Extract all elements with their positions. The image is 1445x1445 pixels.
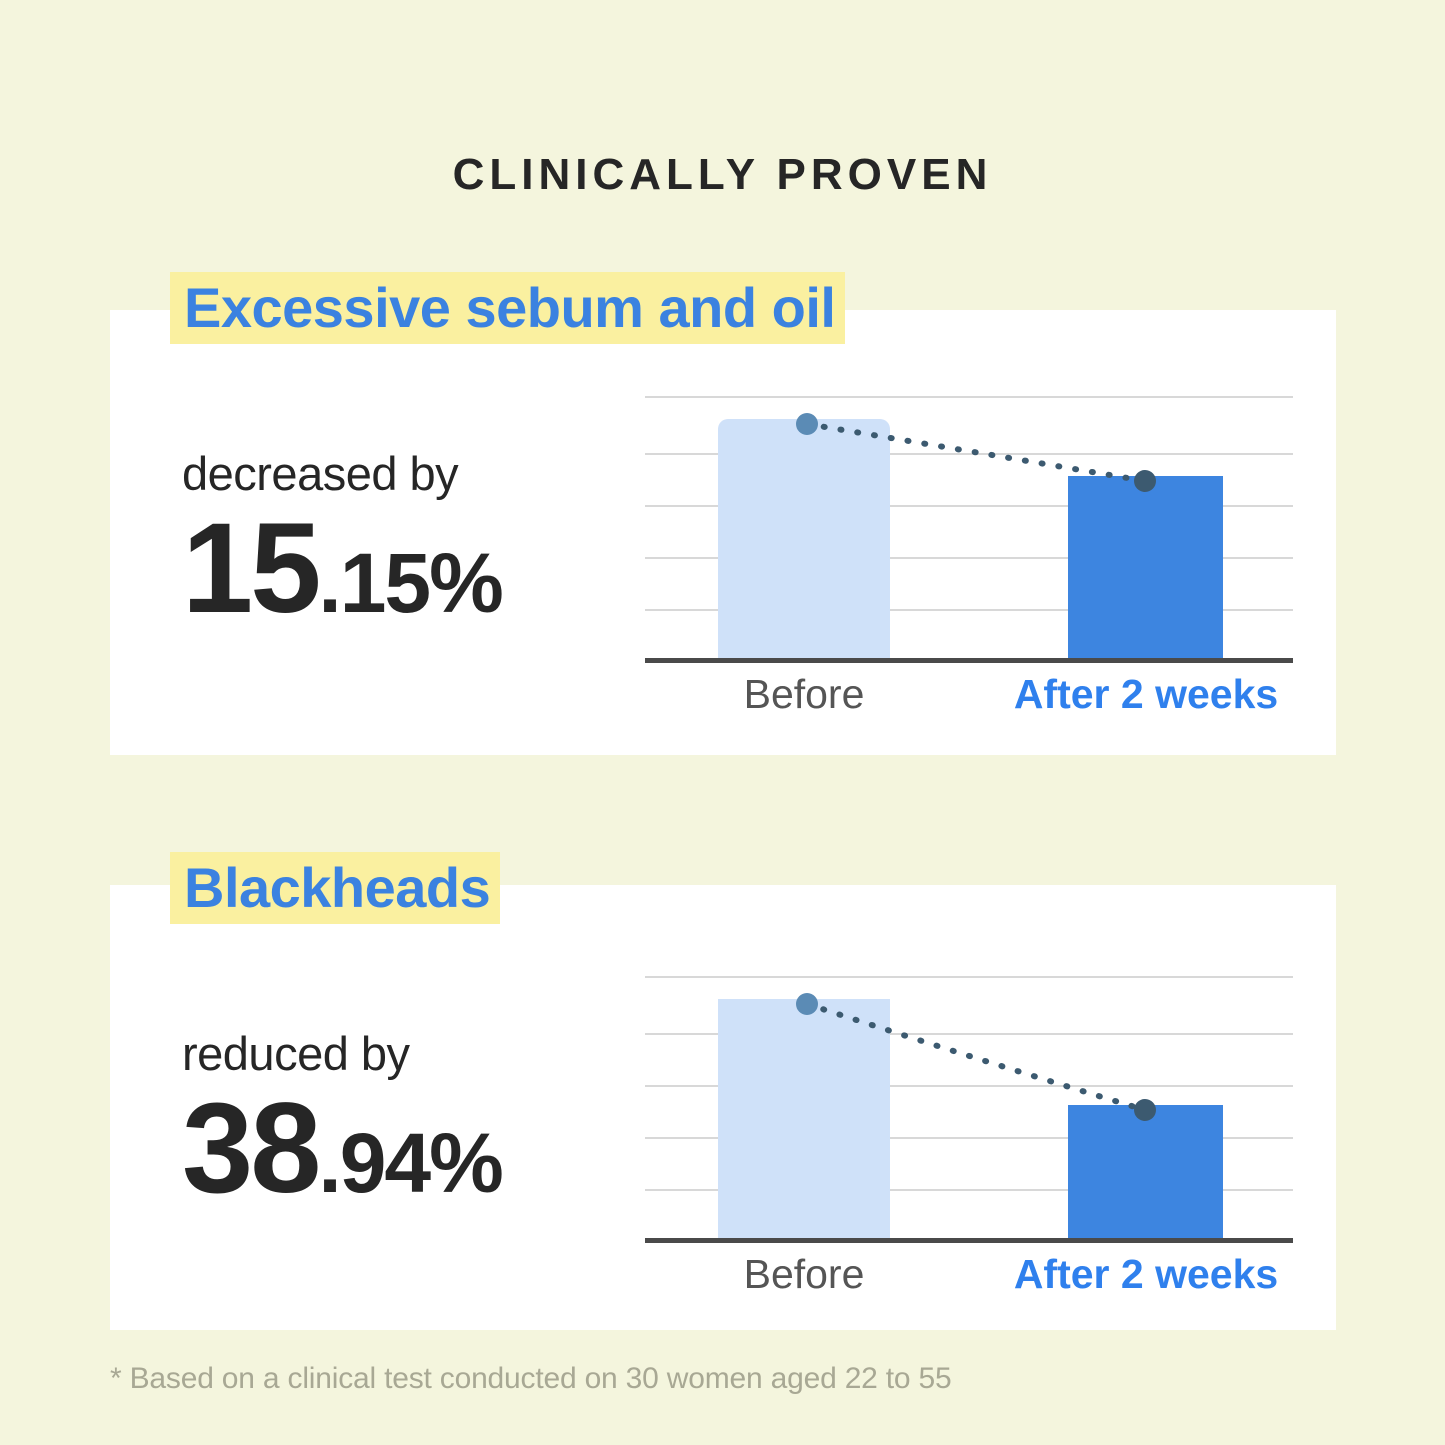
gridline (645, 396, 1293, 398)
stat-value: 38 .94% (182, 1088, 502, 1210)
stat-value-fraction: .15% (318, 544, 501, 624)
chart-axis-labels: Before After 2 weeks (645, 1252, 1293, 1312)
bar-chart: Before After 2 weeks (645, 970, 1293, 1270)
section-title-highlight: Excessive sebum and oil (170, 272, 845, 344)
stat-value: 15 .15% (182, 508, 502, 630)
footnote: * Based on a clinical test conducted on … (110, 1362, 952, 1396)
chart-plot-area (645, 970, 1293, 1243)
chart-axis-labels: Before After 2 weeks (645, 672, 1293, 732)
axis-label-after: After 2 weeks (1000, 672, 1292, 717)
stat-label: reduced by (182, 1028, 502, 1080)
axis-baseline (645, 1238, 1293, 1243)
stat-block: decreased by 15 .15% (182, 448, 502, 629)
stat-block: reduced by 38 .94% (182, 1028, 502, 1209)
page-title: CLINICALLY PROVEN (0, 150, 1445, 200)
bar-chart: Before After 2 weeks (645, 390, 1293, 690)
bar-after (1068, 1105, 1223, 1238)
section-title-highlight: Blackheads (170, 852, 500, 924)
bar-before (718, 419, 890, 658)
stat-label: decreased by (182, 448, 502, 500)
section-title-text: Excessive sebum and oil (184, 280, 835, 336)
axis-label-before: Before (658, 672, 950, 717)
stat-value-integer: 15 (182, 508, 318, 630)
stat-value-integer: 38 (182, 1088, 318, 1210)
bar-after (1068, 476, 1223, 658)
axis-baseline (645, 658, 1293, 663)
axis-label-after: After 2 weeks (1000, 1252, 1292, 1297)
stat-value-fraction: .94% (318, 1124, 501, 1204)
chart-plot-area (645, 390, 1293, 663)
section-title-text: Blackheads (184, 860, 490, 916)
gridline (645, 976, 1293, 978)
axis-label-before: Before (658, 1252, 950, 1297)
bar-before (718, 999, 890, 1238)
